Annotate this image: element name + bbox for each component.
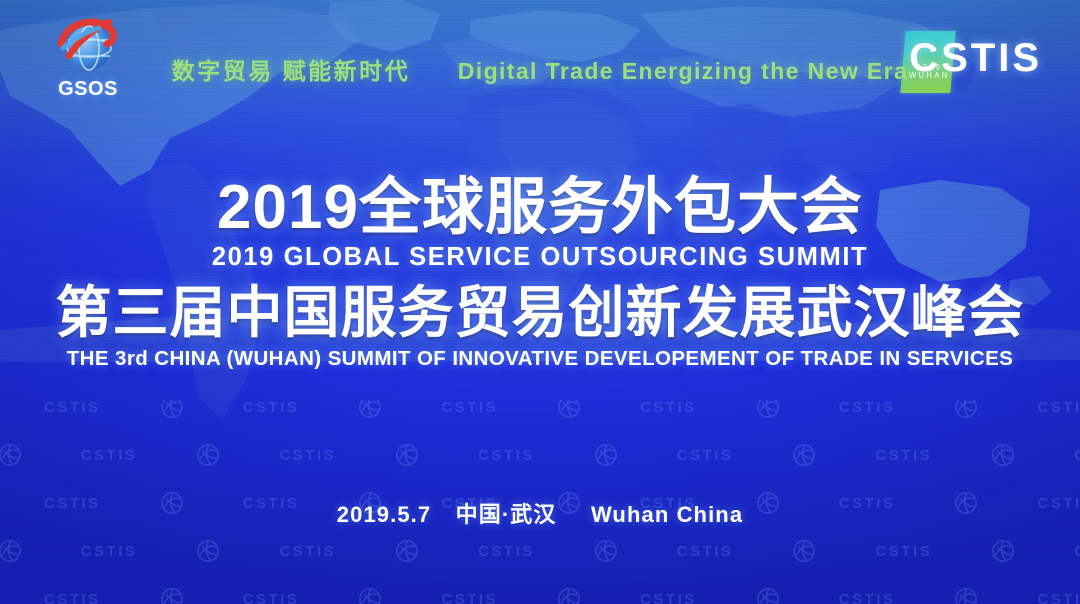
cstis-monogram-icon [755, 400, 781, 420]
watermark-text: CSTIS [279, 447, 336, 464]
secondary-title-block: 第三届中国服务贸易创新发展武汉峰会 THE 3rd CHINA (WUHAN) … [0, 284, 1080, 371]
watermark-text: CSTIS [441, 591, 498, 604]
watermark-text: CSTIS [875, 543, 932, 560]
watermark-text: CSTIS [677, 447, 734, 464]
watermark-text: CSTIS [875, 447, 932, 464]
cstis-monogram-icon [953, 400, 979, 420]
cstis-monogram-icon [953, 586, 979, 604]
watermark-text: CSTIS [279, 543, 336, 560]
watermark-text: CSTIS [478, 543, 535, 560]
watermark-text: CSTIS [640, 400, 697, 416]
cstis-monogram-icon [0, 442, 23, 468]
watermark-text: CSTIS [1037, 591, 1080, 604]
cstis-monogram-icon [990, 442, 1016, 468]
cstis-monogram-icon [357, 586, 383, 604]
watermark-text: CSTIS [1074, 543, 1080, 560]
date-location-line: 2019.5.7 中国·武汉 Wuhan China [0, 497, 1080, 529]
watermark-text: CSTIS [1037, 400, 1080, 416]
event-location-english: Wuhan China [591, 502, 743, 527]
cstis-monogram-icon [357, 400, 383, 420]
cstis-monogram-icon [791, 538, 817, 564]
watermark-row: CSTISCSTISCSTISCSTISCSTISCSTISCSTISCSTIS [0, 442, 1080, 468]
cstis-monogram-icon [195, 442, 221, 468]
cstis-monogram-icon [159, 400, 185, 420]
cstis-monogram-icon [755, 586, 781, 604]
cstis-monogram-icon [593, 538, 619, 564]
watermark-text: CSTIS [839, 400, 896, 416]
watermark-text: CSTIS [243, 591, 300, 604]
cstis-monogram-icon [394, 442, 420, 468]
secondary-title-chinese: 第三届中国服务贸易创新发展武汉峰会 [0, 284, 1080, 343]
watermark-text: CSTIS [243, 400, 300, 416]
watermark-text: CSTIS [81, 543, 138, 560]
tagline-english: Digital Trade Energizing the New Era [458, 58, 908, 84]
watermark-text: CSTIS [1074, 447, 1080, 464]
event-location-chinese: 中国·武汉 [456, 502, 557, 527]
watermark-row: CSTISCSTISCSTISCSTISCSTISCSTISCSTISCSTIS [0, 586, 1080, 604]
watermark-text: CSTIS [677, 543, 734, 560]
watermark-row: CSTISCSTISCSTISCSTISCSTISCSTISCSTISCSTIS [0, 538, 1080, 564]
secondary-title-english: THE 3rd CHINA (WUHAN) SUMMIT OF INNOVATI… [0, 347, 1080, 371]
watermark-text: CSTIS [44, 591, 101, 604]
watermark-text: CSTIS [640, 591, 697, 604]
cstis-monogram-icon [394, 538, 420, 564]
cstis-monogram-icon [556, 586, 582, 604]
watermark-text: CSTIS [44, 400, 101, 416]
event-date: 2019.5.7 [337, 502, 431, 527]
cstis-monogram-icon [556, 400, 582, 420]
primary-title-block: 2019全球服务外包大会 2019 GLOBAL SERVICE OUTSOUR… [0, 176, 1080, 272]
watermark-row: CSTISCSTISCSTISCSTISCSTISCSTISCSTISCSTIS [0, 400, 1080, 420]
tagline-chinese: 数字贸易 赋能新时代 [172, 58, 410, 84]
watermark-text: CSTIS [839, 591, 896, 604]
cstis-monogram-icon [791, 442, 817, 468]
cstis-monogram-icon [0, 538, 23, 564]
primary-title-english: 2019 GLOBAL SERVICE OUTSOURCING SUMMIT [0, 243, 1080, 272]
watermark-text: CSTIS [441, 400, 498, 416]
cstis-monogram-icon [195, 538, 221, 564]
cstis-wordmark: CSTIS [901, 38, 1042, 78]
cstis-monogram-icon [159, 586, 185, 604]
primary-title-chinese: 2019全球服务外包大会 [0, 176, 1080, 240]
cstis-monogram-icon [990, 538, 1016, 564]
watermark-text: CSTIS [81, 447, 138, 464]
watermark-text: CSTIS [478, 447, 535, 464]
cstis-monogram-icon [593, 442, 619, 468]
conference-banner-screen: CSTISCSTISCSTISCSTISCSTISCSTISCSTISCSTIS… [0, 0, 1080, 604]
